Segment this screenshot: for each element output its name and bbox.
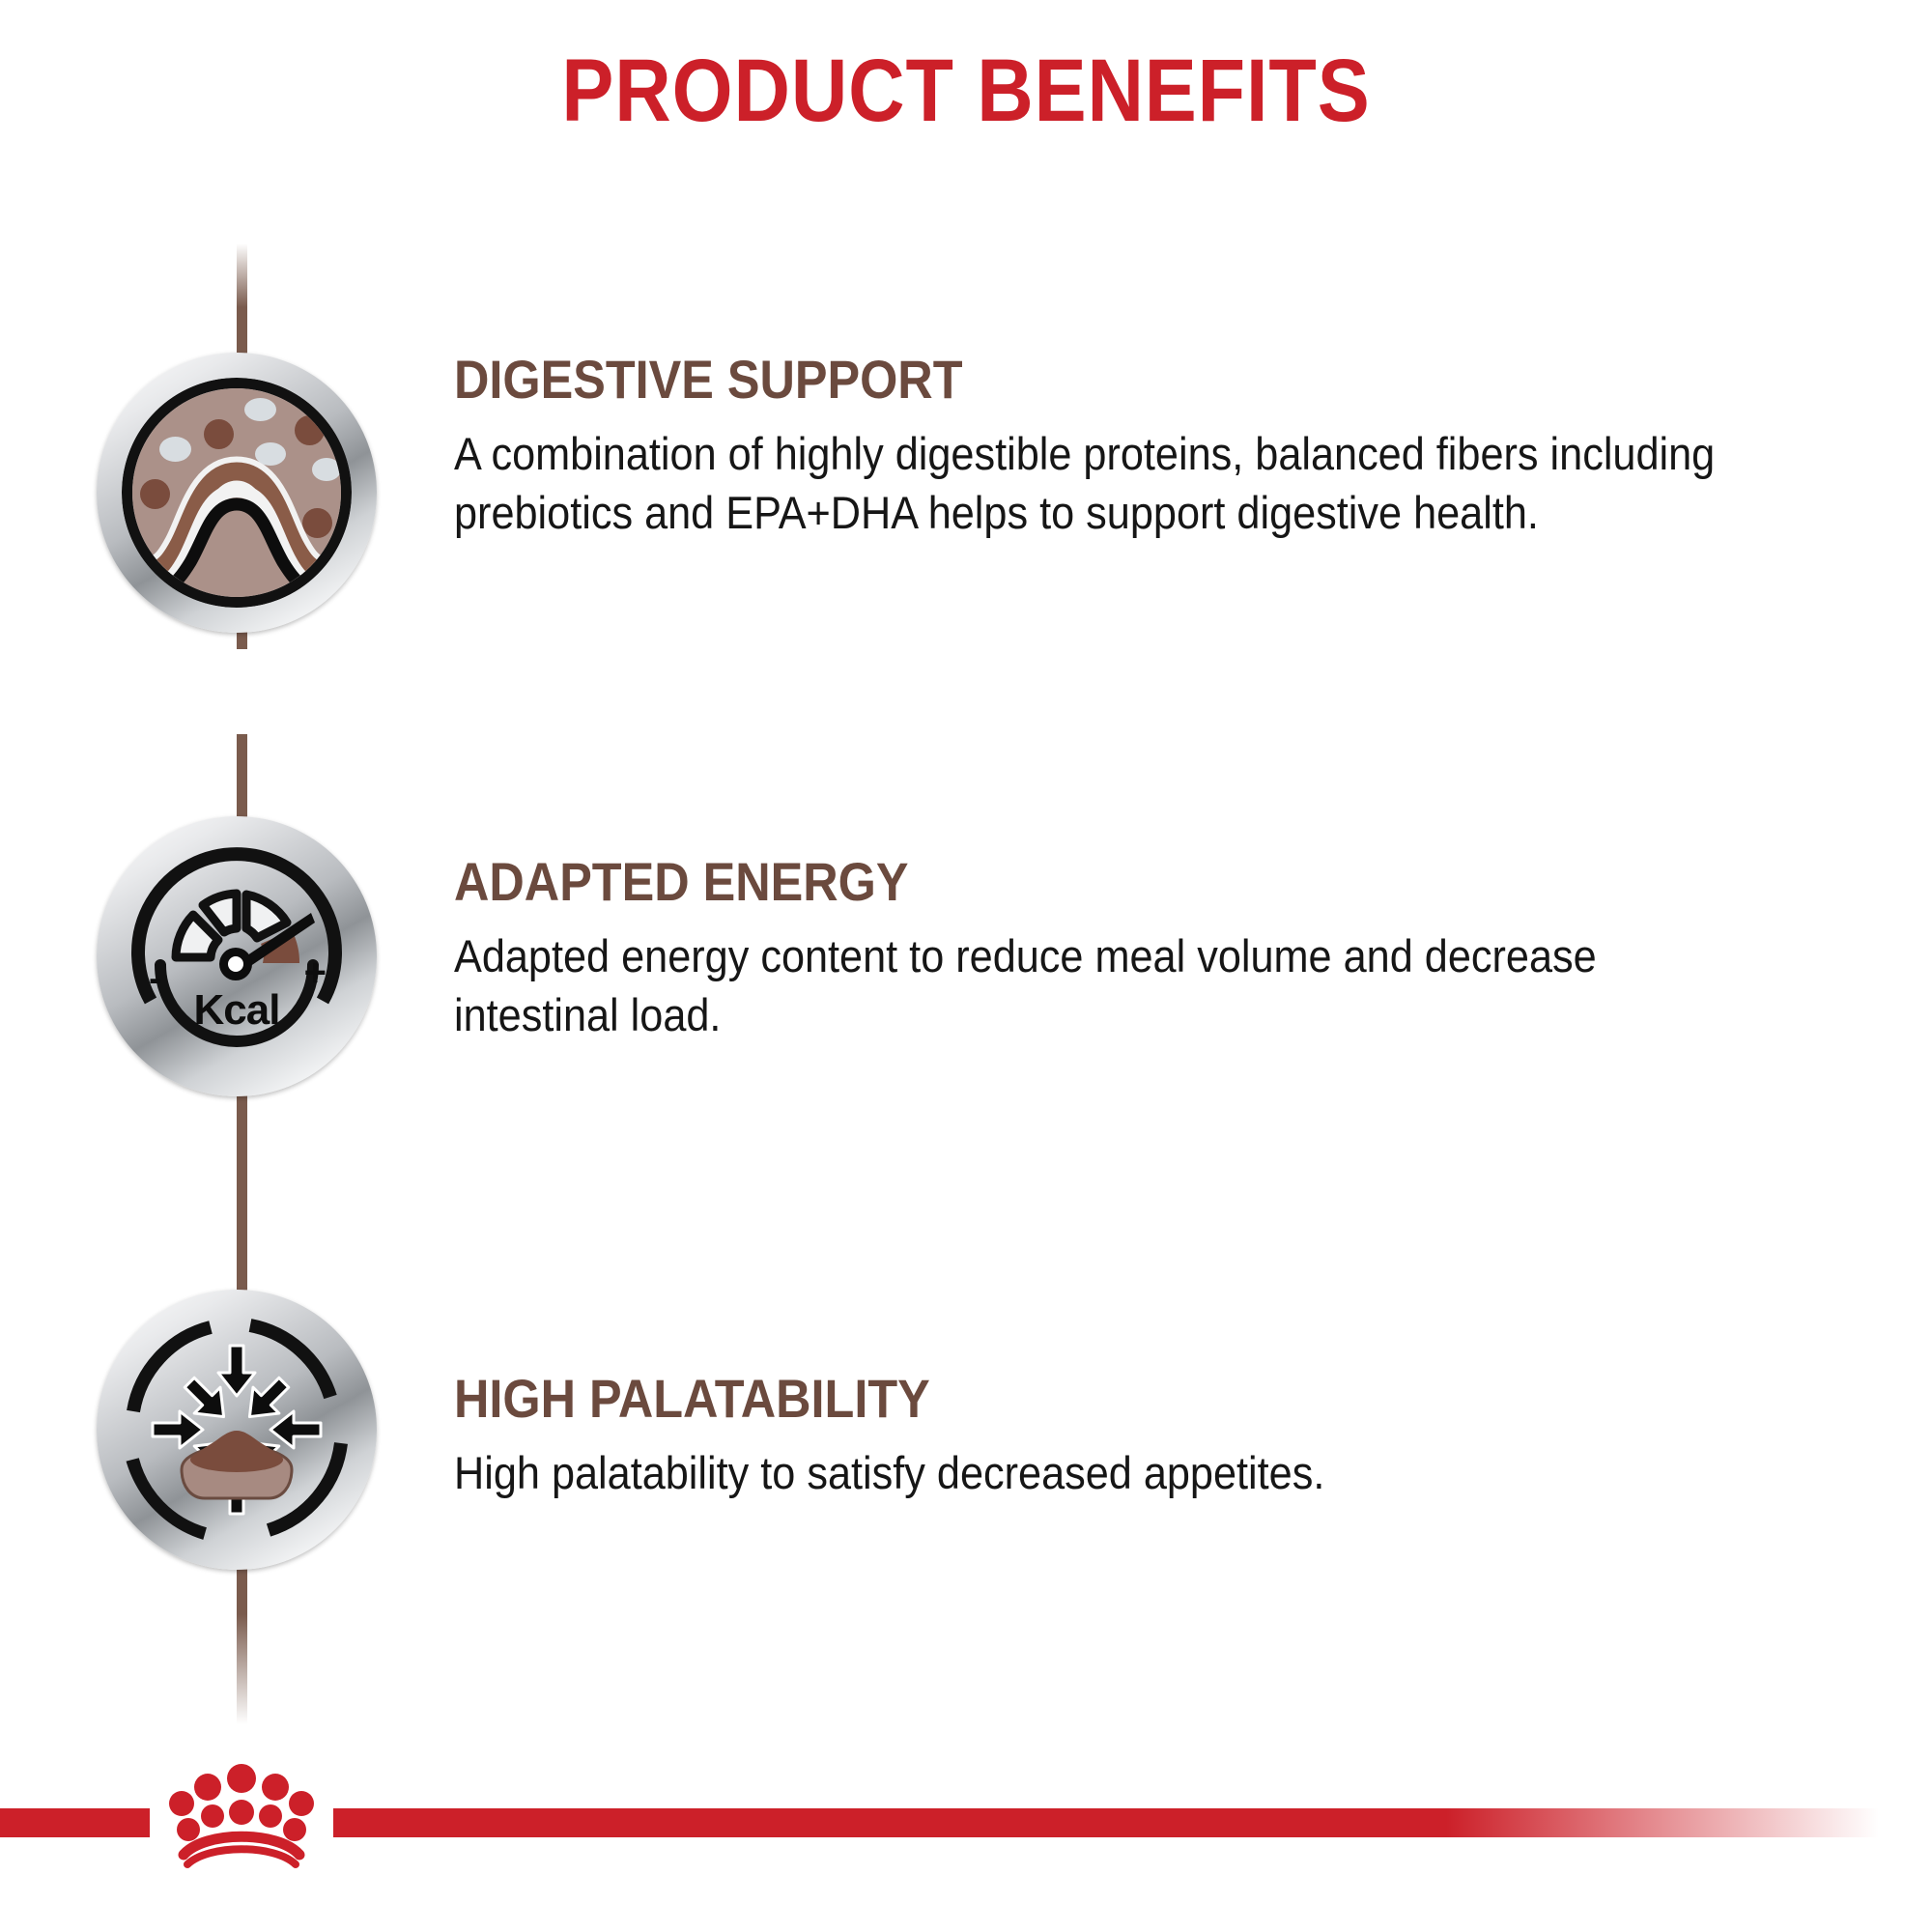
benefit-block-digestive-support: DIGESTIVE SUPPORT A combination of highl… bbox=[454, 348, 1864, 542]
intestine-wave-graphic bbox=[132, 388, 341, 597]
benefit-body: Adapted energy content to reduce meal vo… bbox=[454, 926, 1636, 1044]
digestive-icon-inner bbox=[122, 378, 352, 608]
digestive-icon-fill bbox=[132, 388, 341, 597]
benefit-heading: HIGH PALATABILITY bbox=[454, 1367, 1723, 1430]
benefit-heading: DIGESTIVE SUPPORT bbox=[454, 348, 1723, 411]
royal-canin-crown-logo bbox=[145, 1763, 338, 1869]
bowl-icon-inner bbox=[122, 1315, 352, 1545]
benefit-body: A combination of highly digestible prote… bbox=[454, 424, 1751, 542]
digestive-system-icon bbox=[97, 353, 377, 633]
connector-line-bottom bbox=[237, 1555, 247, 1724]
food-bowl-arrows-icon bbox=[97, 1290, 377, 1570]
benefit-heading: ADAPTED ENERGY bbox=[454, 850, 1723, 913]
bowl-arrows-graphic bbox=[122, 1315, 352, 1545]
kcal-label: Kcal bbox=[122, 986, 352, 1035]
benefit-block-high-palatability: HIGH PALATABILITY High palatability to s… bbox=[454, 1367, 1864, 1502]
benefit-block-adapted-energy: ADAPTED ENERGY Adapted energy content to… bbox=[454, 850, 1864, 1044]
footer-bar-right bbox=[333, 1808, 1879, 1837]
kcal-gauge-icon: - + Kcal bbox=[97, 816, 377, 1096]
page-title: PRODUCT BENEFITS bbox=[116, 41, 1816, 142]
benefit-body: High palatability to satisfy decreased a… bbox=[454, 1443, 1751, 1502]
food-bowl bbox=[182, 1431, 292, 1498]
connector-line-top bbox=[237, 243, 247, 359]
footer-bar-left bbox=[0, 1808, 150, 1837]
kcal-icon-inner: - + Kcal bbox=[122, 841, 352, 1071]
product-benefits-page: PRODUCT BENEFITS bbox=[0, 0, 1932, 1932]
